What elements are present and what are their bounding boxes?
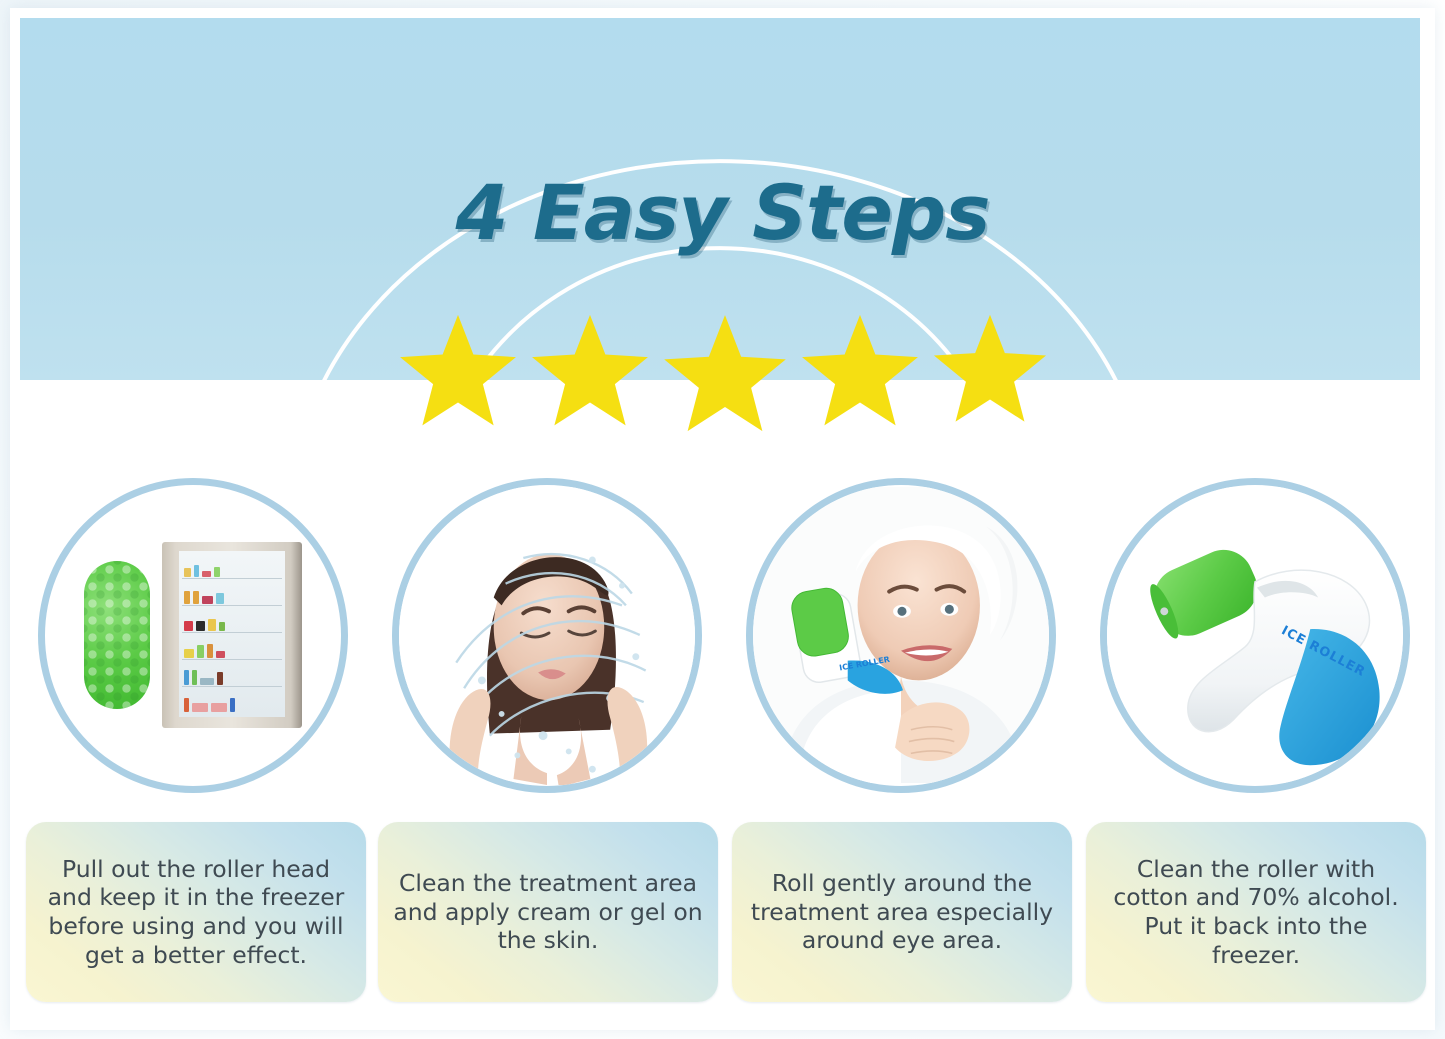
star-icon: [661, 312, 789, 436]
step-1-image-wrap: [20, 470, 366, 800]
roller-head-icon: [84, 561, 150, 709]
star-icon: [799, 312, 921, 430]
page-title: 4 Easy Steps: [0, 168, 1445, 257]
step-3-image-wrap: ICE ROLLER: [728, 470, 1074, 800]
step-1-caption-text: Pull out the roller head and keep it in …: [38, 855, 354, 970]
woman-using-roller-illustration: ICE ROLLER: [753, 485, 1049, 785]
star-rating: [0, 312, 1445, 436]
step-1-photo: [38, 478, 348, 793]
infographic-page: 4 Easy Steps: [0, 0, 1445, 1039]
step-4-caption: Clean the roller with cotton and 70% alc…: [1086, 822, 1426, 1002]
star-icon: [931, 312, 1049, 426]
star-icon: [397, 312, 519, 430]
step-3-photo: ICE ROLLER: [746, 478, 1056, 793]
step-3-caption-text: Roll gently around the treatment area es…: [744, 869, 1060, 955]
refrigerator-icon: [162, 542, 302, 728]
step-4-caption-text: Clean the roller with cotton and 70% alc…: [1098, 855, 1414, 970]
step-1: Pull out the roller head and keep it in …: [20, 470, 366, 1002]
step-1-caption: Pull out the roller head and keep it in …: [26, 822, 366, 1002]
step-2-caption-text: Clean the treatment area and apply cream…: [390, 869, 706, 955]
roller-disassembled-illustration: ICE ROLLER: [1107, 485, 1403, 785]
step-3-caption: Roll gently around the treatment area es…: [732, 822, 1072, 1002]
step-3: ICE ROLLER Roll gently around the treatm…: [728, 470, 1074, 1002]
step-2-image-wrap: [374, 470, 720, 800]
step-2: Clean the treatment area and apply cream…: [374, 470, 720, 1002]
step-4-photo: ICE ROLLER: [1100, 478, 1410, 793]
step-2-caption: Clean the treatment area and apply cream…: [378, 822, 718, 1002]
star-icon: [529, 312, 651, 430]
face-washing-illustration: [399, 485, 695, 785]
step-2-photo: [392, 478, 702, 793]
step-4-image-wrap: ICE ROLLER: [1082, 470, 1428, 800]
steps-row: Pull out the roller head and keep it in …: [20, 470, 1420, 1002]
step-4: ICE ROLLER Clean the roller with cotton …: [1082, 470, 1428, 1002]
